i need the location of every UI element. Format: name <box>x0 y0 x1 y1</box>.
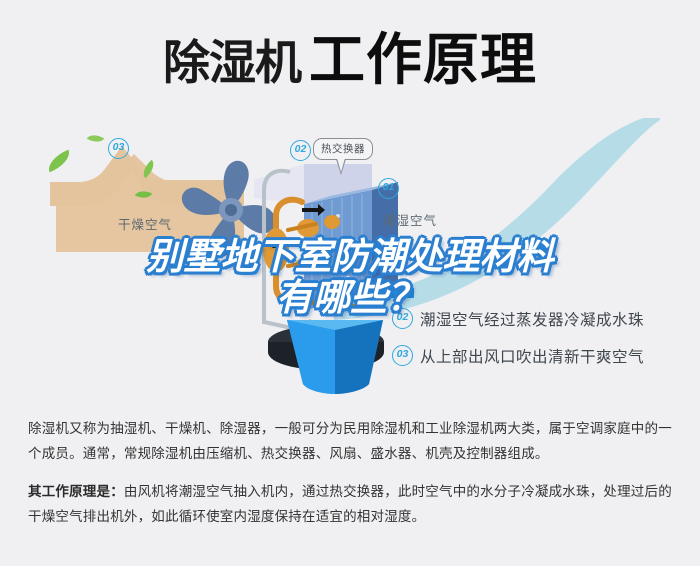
legend-badge-03: 03 <box>392 345 413 366</box>
legend-text-03: 从上部出风口吹出清新干爽空气 <box>420 345 644 367</box>
heat-exchanger-callout: 热交换器 <box>313 138 373 160</box>
legend-item: 03 从上部出风口吹出清新干爽空气 <box>392 337 644 374</box>
water-tank-icon <box>283 314 387 400</box>
page-title-secondary: 工作原理 <box>309 28 537 91</box>
article-body: 除湿机又称为抽湿机、干燥机、除湿器，一般可分为民用除湿机和工业除湿机两大类，属于… <box>28 416 678 542</box>
paragraph-2-rest: 由风机将潮湿空气抽入机内，通过热交换器，此时空气中的水分子冷凝成水珠，处理过后的… <box>28 484 672 524</box>
diagram-badge-02: 02 <box>290 140 311 161</box>
paragraph-1: 除湿机又称为抽湿机、干燥机、除湿器，一般可分为民用除湿机和工业除湿机两大类，属于… <box>28 416 678 466</box>
legend-item: 02 潮湿空气经过蒸发器冷凝成水珠 <box>392 300 644 337</box>
legend-badge-02: 02 <box>392 308 413 329</box>
legend-text-02: 潮湿空气经过蒸发器冷凝成水珠 <box>420 308 644 330</box>
humid-air-label: 潮湿空气 <box>383 210 437 229</box>
paragraph-2-lead: 其工作原理是： <box>28 484 124 499</box>
page-title-primary: 除湿机 <box>163 36 301 89</box>
diagram-legend: 02 潮湿空气经过蒸发器冷凝成水珠 03 从上部出风口吹出清新干爽空气 <box>392 300 644 374</box>
page-root: 除湿机工作原理 干燥空气 <box>0 0 700 566</box>
leaf-icon <box>87 131 104 146</box>
page-header: 除湿机工作原理 <box>0 0 700 120</box>
diagram-badge-01: 01 <box>378 178 399 199</box>
page-title: 除湿机工作原理 <box>163 32 537 88</box>
diagram-badge-03: 03 <box>108 138 129 159</box>
paragraph-2: 其工作原理是：由风机将潮湿空气抽入机内，通过热交换器，此时空气中的水分子冷凝成水… <box>28 479 678 529</box>
dry-air-label: 干燥空气 <box>118 214 172 233</box>
